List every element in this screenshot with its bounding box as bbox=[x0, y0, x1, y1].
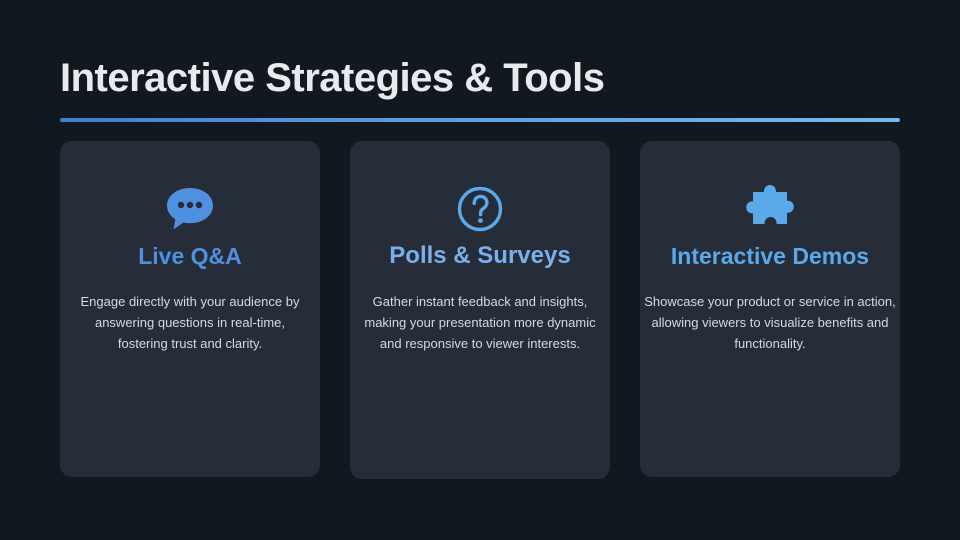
feature-card-interactive-demos[interactable]: Interactive Demos Showcase your product … bbox=[640, 141, 900, 477]
card-body-text: Engage directly with your audience by an… bbox=[60, 291, 320, 354]
feature-card-polls-surveys[interactable]: Polls & Surveys Gather instant feedback … bbox=[350, 141, 610, 479]
card-title: Live Q&A bbox=[60, 244, 320, 269]
card-title: Polls & Surveys bbox=[350, 243, 610, 268]
card-body-text: Showcase your product or service in acti… bbox=[640, 291, 900, 354]
feature-card-live-qa[interactable]: Live Q&A Engage directly with your audie… bbox=[60, 141, 320, 477]
feature-card-grid: Live Q&A Engage directly with your audie… bbox=[0, 0, 960, 540]
puzzle-piece-icon bbox=[640, 183, 900, 231]
speech-bubble-dots-icon bbox=[60, 185, 320, 233]
slide-canvas: Interactive Strategies & Tools Live Q&A … bbox=[0, 0, 960, 540]
question-mark-circle-icon bbox=[350, 185, 610, 233]
card-title: Interactive Demos bbox=[640, 244, 900, 269]
card-body-text: Gather instant feedback and insights, ma… bbox=[350, 291, 610, 354]
